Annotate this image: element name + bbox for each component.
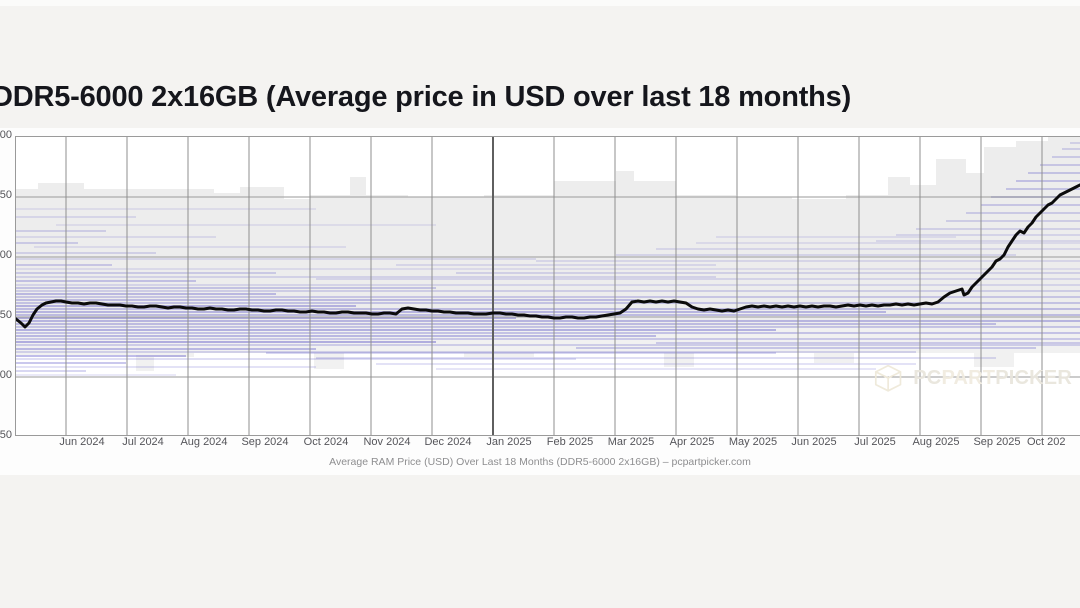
xtick-label-sep-2024: Sep 2024 [234,436,296,448]
xtick-label-jul-2025: Jul 2025 [844,436,906,448]
xtick-label-nov-2024: Nov 2024 [356,436,418,448]
xtick-label-oct-2025: Oct 202 [1027,436,1080,448]
plot-area [15,136,1080,436]
ytick-label-50: $50 [0,429,12,441]
xtick-label-feb-2025: Feb 2025 [539,436,601,448]
xtick-label-jun-2024: Jun 2024 [51,436,113,448]
ytick-label-200: $200 [0,249,12,261]
page-title: DDR5-6000 2x16GB (Average price in USD o… [0,76,992,118]
xtick-label-sep-2025: Sep 2025 [966,436,1028,448]
ytick-label-300: $300 [0,129,12,141]
xtick-label-aug-2025: Aug 2025 [905,436,967,448]
xtick-label-may-2025: May 2025 [722,436,784,448]
xtick-label-jul-2024: Jul 2024 [112,436,174,448]
xtick-label-oct-2024: Oct 2024 [295,436,357,448]
ytick-label-150: $150 [0,309,12,321]
ytick-label-250: $250 [0,189,12,201]
top-edge-strip [0,0,1080,6]
xtick-label-aug-2024: Aug 2024 [173,436,235,448]
price-history-chart [16,137,1080,436]
xtick-label-apr-2025: Apr 2025 [661,436,723,448]
xtick-label-dec-2024: Dec 2024 [417,436,479,448]
xtick-label-jan-2025: Jan 2025 [478,436,540,448]
chart-caption: Average RAM Price (USD) Over Last 18 Mon… [0,456,1080,468]
xtick-label-mar-2025: Mar 2025 [600,436,662,448]
ytick-label-100: $100 [0,369,12,381]
xtick-label-jun-2025: Jun 2025 [783,436,845,448]
chart-card: $300 $250 $200 $150 $100 $50 [0,128,1080,475]
screenshot-root: DDR5-6000 2x16GB (Average price in USD o… [0,0,1080,608]
